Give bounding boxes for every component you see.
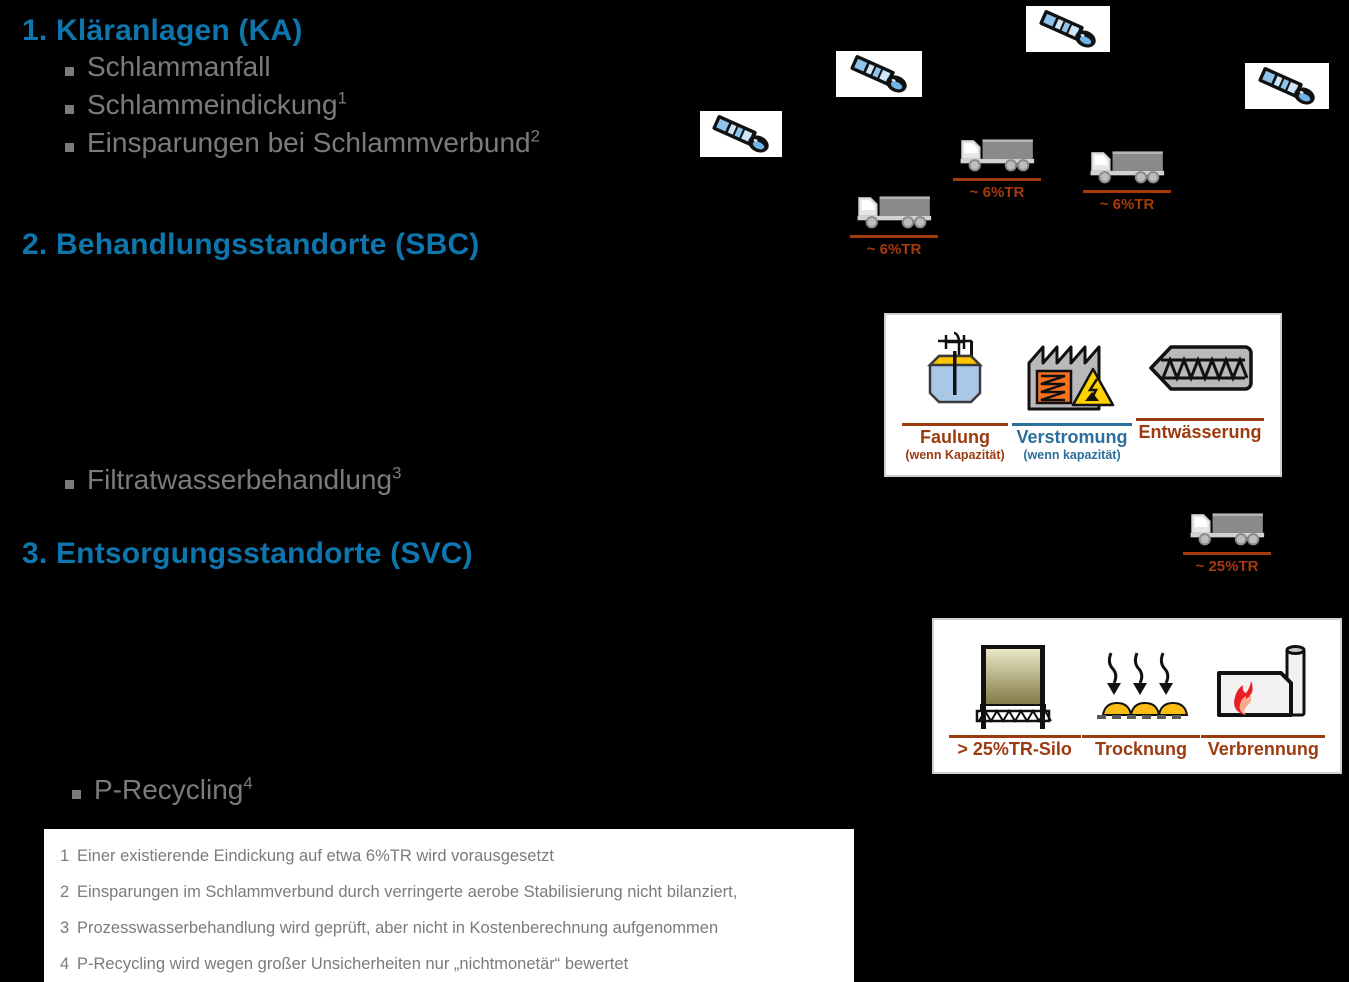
bullet-square-icon xyxy=(65,67,74,76)
footnote-3: 3 Prozesswasserbehandlung wird geprüft, … xyxy=(60,919,854,938)
footnote-text: Einer existierende Eindickung auf etwa 6… xyxy=(77,847,554,866)
footnote-number: 2 xyxy=(60,883,77,902)
process-subcaption: (wenn Kapazität) xyxy=(905,448,1004,463)
process-caption: Verbrennung xyxy=(1208,740,1319,760)
process-silo[interactable]: > 25%TR-Silo xyxy=(949,639,1081,760)
wastewater-treatment-plant-icon xyxy=(1031,9,1105,49)
wastewater-treatment-plant-icon xyxy=(705,114,777,154)
bullet-filtratwasserbehandlung: Filtratwasserbehandlung3 xyxy=(65,465,401,494)
bullet-einsparungen-schlammverbund: Einsparungen bei Schlammverbund2 xyxy=(65,128,540,157)
process-trocknung[interactable]: Trocknung xyxy=(1082,639,1200,760)
bullet-square-icon xyxy=(65,105,74,114)
footnote-1: 1 Einer existierende Eindickung auf etwa… xyxy=(60,847,854,866)
tr-label: ~ 6%TR xyxy=(850,241,938,258)
bullet-schlammeindickung: Schlammeindickung1 xyxy=(65,90,347,119)
process-rule xyxy=(1082,735,1200,738)
bullet-label: Einsparungen bei Schlammverbund2 xyxy=(87,128,540,157)
footnotes-panel: 1 Einer existierende Eindickung auf etwa… xyxy=(44,829,854,982)
footnote-text: Prozesswasserbehandlung wird geprüft, ab… xyxy=(77,919,718,938)
tr-rule xyxy=(1083,190,1171,193)
footnote-2: 2 Einsparungen im Schlammverbund durch v… xyxy=(60,883,854,902)
tr-label: ~ 6%TR xyxy=(1083,196,1171,213)
silo-icon xyxy=(967,639,1063,731)
footnote-4: 4 P-Recycling wird wegen großer Unsicher… xyxy=(60,955,854,974)
process-caption: Faulung xyxy=(920,428,990,448)
treatment-panel: Faulung (wenn Kapazität) Verstromung (we… xyxy=(884,313,1282,477)
bullet-square-icon xyxy=(72,790,81,799)
section-heading-2: 2. Behandlungsstandorte (SBC) xyxy=(22,228,480,262)
process-subcaption: (wenn kapazität) xyxy=(1023,448,1120,463)
process-verstromung[interactable]: Verstromung (wenn kapazität) xyxy=(1012,327,1132,463)
process-caption: Verstromung xyxy=(1016,428,1127,448)
incinerator-icon xyxy=(1211,639,1315,731)
footnote-number: 3 xyxy=(60,919,77,938)
bullet-label: Schlammeindickung1 xyxy=(87,90,347,119)
process-caption: Entwässerung xyxy=(1138,423,1261,443)
tr-rule xyxy=(850,235,938,238)
plant-card-4[interactable] xyxy=(1245,63,1329,109)
transport-4: ~ 25%TR xyxy=(1183,507,1273,575)
drying-icon xyxy=(1091,639,1191,731)
disposal-panel: > 25%TR-Silo Trocknung xyxy=(932,618,1342,774)
transport-1: ~ 6%TR xyxy=(850,190,940,258)
tr-rule xyxy=(1183,552,1271,555)
truck-icon xyxy=(1089,145,1167,185)
plant-card-2[interactable] xyxy=(836,51,922,97)
chp-plant-icon xyxy=(1023,327,1121,419)
wastewater-treatment-plant-icon xyxy=(842,54,916,94)
footnote-number: 4 xyxy=(60,955,77,974)
process-verbrennung[interactable]: Verbrennung xyxy=(1201,639,1325,760)
process-rule xyxy=(902,423,1008,426)
bullet-square-icon xyxy=(65,480,74,489)
screw-press-icon xyxy=(1145,322,1255,414)
truck-icon xyxy=(1189,507,1267,547)
plant-card-1[interactable] xyxy=(700,111,782,157)
process-caption: > 25%TR-Silo xyxy=(957,740,1072,760)
tr-label: ~ 6%TR xyxy=(953,184,1041,201)
footnote-text: P-Recycling wird wegen großer Unsicherhe… xyxy=(77,955,628,974)
bullet-label: Filtratwasserbehandlung3 xyxy=(87,465,401,494)
process-rule xyxy=(1136,418,1264,421)
bullet-label: P-Recycling4 xyxy=(94,775,253,804)
process-rule xyxy=(1201,735,1325,738)
tr-label: ~ 25%TR xyxy=(1183,558,1271,575)
process-rule xyxy=(949,735,1081,738)
bullet-label: Schlammanfall xyxy=(87,52,271,81)
process-entwaesserung[interactable]: Entwässerung xyxy=(1136,322,1264,443)
digester-icon xyxy=(916,327,994,419)
plant-card-3[interactable] xyxy=(1026,6,1110,52)
transport-2: ~ 6%TR xyxy=(953,133,1043,201)
section-heading-3: 3. Entsorgungsstandorte (SVC) xyxy=(22,537,473,571)
process-faulung[interactable]: Faulung (wenn Kapazität) xyxy=(902,327,1008,463)
process-caption: Trocknung xyxy=(1095,740,1187,760)
footnote-number: 1 xyxy=(60,847,77,866)
wastewater-treatment-plant-icon xyxy=(1250,66,1324,106)
tr-rule xyxy=(953,178,1041,181)
transport-3: ~ 6%TR xyxy=(1083,145,1173,213)
truck-icon xyxy=(856,190,934,230)
section-heading-1: 1. Kläranlagen (KA) xyxy=(22,14,303,48)
footnote-text: Einsparungen im Schlammverbund durch ver… xyxy=(77,883,737,902)
truck-icon xyxy=(959,133,1037,173)
bullet-square-icon xyxy=(65,143,74,152)
process-rule xyxy=(1012,423,1132,426)
bullet-schlammanfall: Schlammanfall xyxy=(65,52,271,81)
bullet-p-recycling: P-Recycling4 xyxy=(72,775,253,804)
